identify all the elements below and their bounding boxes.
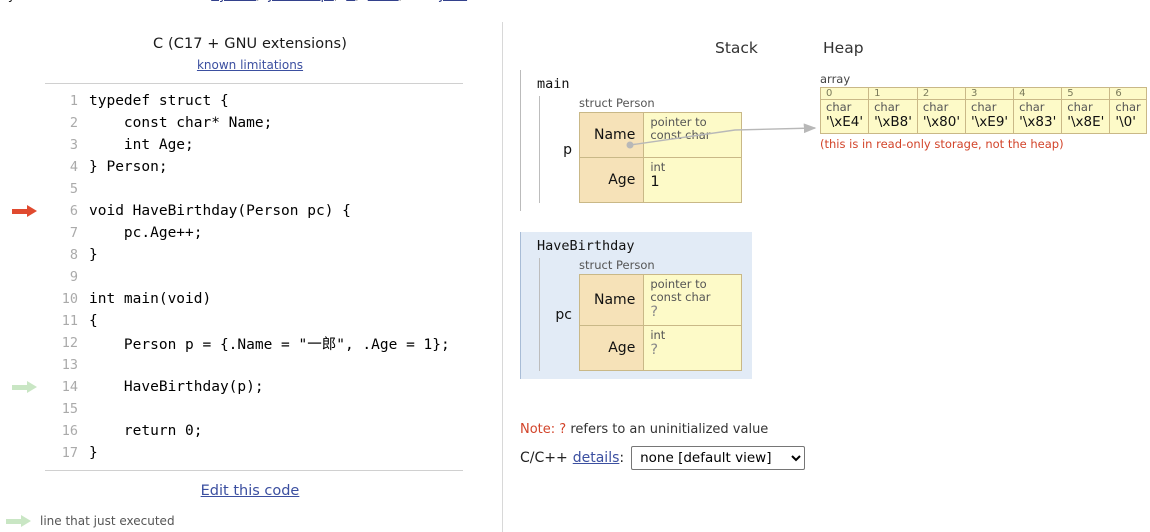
pane-divider <box>502 22 503 532</box>
code-line-text: pc.Age++; <box>87 222 500 244</box>
struct-field-row: Namepointer to const char <box>580 113 742 158</box>
struct-field-row: Ageint? <box>580 326 742 371</box>
heap-cell-value: '\xE4' <box>826 114 863 130</box>
code-line-text: HaveBirthday(p); <box>87 376 500 398</box>
stack-frame-body: pcstruct PersonNamepointer to const char… <box>539 258 742 371</box>
code-line-row[interactable]: 11{ <box>0 310 500 332</box>
details-row: C/C++ details : none [default view] <box>520 446 805 470</box>
code-line-row[interactable]: 7 pc.Age++; <box>0 222 500 244</box>
heap-cell-value: '\0' <box>1115 114 1140 130</box>
variable-name: pc <box>540 307 579 323</box>
struct-object: struct PersonNamepointer to const char?A… <box>579 258 742 371</box>
code-line-marker <box>0 178 40 200</box>
heap-cell: char'\0' <box>1110 100 1146 134</box>
code-line-text <box>87 266 500 288</box>
code-line-row[interactable]: 3 int Age; <box>0 134 500 156</box>
code-line-text: } <box>87 244 500 266</box>
struct-type-label: struct Person <box>579 258 742 272</box>
code-line-row[interactable]: 10int main(void) <box>0 288 500 310</box>
heap-cell-index: 4 <box>1014 88 1062 100</box>
code-line-marker <box>0 398 40 420</box>
code-line-row[interactable]: 12 Person p = {.Name = "一郎", .Age = 1}; <box>0 332 500 354</box>
arrow-shaft <box>12 209 28 214</box>
arrow-head <box>27 205 37 217</box>
note-text: refers to an uninitialized value <box>570 422 768 437</box>
code-line-number[interactable]: 11 <box>40 310 87 332</box>
code-line-text: const char* Name; <box>87 112 500 134</box>
heap-cell: char'\x8E' <box>1062 100 1110 134</box>
code-line-marker <box>0 200 40 222</box>
code-line-number[interactable]: 7 <box>40 222 87 244</box>
code-line-marker <box>0 420 40 442</box>
variable-name: p <box>540 142 579 158</box>
heap-cell-type: char <box>971 101 1008 114</box>
heap-cell-index: 3 <box>966 88 1014 100</box>
heap-object: array 0123456 char'\xE4'char'\xB8'char'\… <box>820 72 1147 151</box>
struct-field-value-cell: int1 <box>644 158 742 203</box>
code-line-marker <box>0 156 40 178</box>
code-line-row[interactable]: 16 return 0; <box>0 420 500 442</box>
code-line-number[interactable]: 8 <box>40 244 87 266</box>
struct-field-type: int <box>650 161 733 174</box>
struct-field-value-cell: pointer to const char <box>644 113 742 158</box>
struct-field-value: ? <box>650 304 733 320</box>
details-colon: : <box>619 450 624 466</box>
code-line-row[interactable]: 8} <box>0 244 500 266</box>
heap-cell-type: char <box>923 101 960 114</box>
code-line-marker <box>0 332 40 354</box>
code-line-row[interactable]: 14 HaveBirthday(p); <box>0 376 500 398</box>
code-line-text <box>87 398 500 420</box>
code-lines-body: 1typedef struct {2 const char* Name;3 in… <box>0 90 500 464</box>
code-line-text: { <box>87 310 500 332</box>
code-line-row[interactable]: 5 <box>0 178 500 200</box>
code-line-marker <box>0 376 40 398</box>
top-nav-text: Python Tutor: Visualize code in <box>0 0 207 3</box>
code-line-marker <box>0 310 40 332</box>
legend-item: line that just executed <box>6 513 500 529</box>
details-prefix: C/C++ <box>520 450 568 466</box>
code-line-text: typedef struct { <box>87 90 500 112</box>
code-line-row[interactable]: 15 <box>0 398 500 420</box>
code-line-row[interactable]: 4} Person; <box>0 156 500 178</box>
heap-cell-value: '\x8E' <box>1067 114 1104 130</box>
heap-cell: char'\x80' <box>917 100 965 134</box>
code-line-row[interactable]: 2 const char* Name; <box>0 112 500 134</box>
code-line-text: int Age; <box>87 134 500 156</box>
code-line-number[interactable]: 6 <box>40 200 87 222</box>
code-line-marker <box>0 222 40 244</box>
execution-legend: line that just executednext line to exec… <box>0 513 500 532</box>
code-line-number[interactable]: 16 <box>40 420 87 442</box>
code-line-marker <box>0 112 40 134</box>
struct-field-value-cell: int? <box>644 326 742 371</box>
top-nav-link-python[interactable]: Python <box>211 0 256 3</box>
struct-field-value: ? <box>650 342 733 358</box>
code-line-number[interactable]: 3 <box>40 134 87 156</box>
arrow-shaft <box>6 519 22 524</box>
struct-field-type: pointer to const char <box>650 116 733 142</box>
heap-cell: char'\x83' <box>1014 100 1062 134</box>
details-link[interactable]: details <box>573 450 620 466</box>
code-panel: C (C17 + GNU extensions) known limitatio… <box>0 30 500 532</box>
edit-code-container: Edit this code <box>0 480 500 499</box>
code-line-number[interactable]: 15 <box>40 398 87 420</box>
heap-cell-type: char <box>1067 101 1104 114</box>
code-line-text: } <box>87 442 500 464</box>
heap-cell-type: char <box>1115 101 1140 114</box>
heap-array-value-row: char'\xE4'char'\xB8'char'\x80'char'\xE9'… <box>821 100 1147 134</box>
heap-cell-type: char <box>874 101 912 114</box>
struct-field-row: Namepointer to const char? <box>580 275 742 326</box>
code-line-row[interactable]: 17} <box>0 442 500 464</box>
code-line-text: } Person; <box>87 156 500 178</box>
code-line-text <box>87 354 500 376</box>
language-title: C (C17 + GNU extensions) <box>0 36 500 52</box>
code-line-number[interactable]: 13 <box>40 354 87 376</box>
stack-frame-main: mainpstruct PersonNamepointer to const c… <box>520 70 752 211</box>
struct-field-value: 1 <box>650 174 733 190</box>
code-line-number[interactable]: 14 <box>40 376 87 398</box>
stack-frame-name: main <box>537 76 742 92</box>
code-line-number[interactable]: 5 <box>40 178 87 200</box>
heap-array-table: 0123456 char'\xE4'char'\xB8'char'\x80'ch… <box>820 87 1147 134</box>
code-line-marker <box>0 90 40 112</box>
code-line-row[interactable]: 9 <box>0 266 500 288</box>
heap-cell-index: 6 <box>1110 88 1146 100</box>
code-line-number[interactable]: 2 <box>40 112 87 134</box>
struct-field-key: Age <box>580 326 644 371</box>
heap-cell-type: char <box>826 101 863 114</box>
code-line-text <box>87 178 500 200</box>
legend-item-label: line that just executed <box>40 514 175 528</box>
arrow-head <box>21 515 31 527</box>
code-line-number[interactable]: 9 <box>40 266 87 288</box>
heap-cell-value: '\xB8' <box>874 114 912 130</box>
struct-field-value-cell: pointer to const char? <box>644 275 742 326</box>
code-line-marker <box>0 266 40 288</box>
code-line-number[interactable]: 10 <box>40 288 87 310</box>
stack-frame-body: pstruct PersonNamepointer to const charA… <box>539 96 742 203</box>
heap-cell: char'\xB8' <box>869 100 918 134</box>
note-question-mark: ? <box>559 422 566 437</box>
heap-cell-index: 0 <box>821 88 869 100</box>
code-listing: 1typedef struct {2 const char* Name;3 in… <box>0 90 500 464</box>
uninitialized-note: Note: ? refers to an uninitialized value <box>520 422 768 437</box>
heap-cell-index: 1 <box>869 88 918 100</box>
top-nav-link-c[interactable]: C <box>346 0 355 3</box>
view-mode-select[interactable]: none [default view] <box>631 446 805 470</box>
next-line-arrow-icon <box>12 205 38 217</box>
top-nav-link-java[interactable]: Java <box>440 0 467 3</box>
code-top-divider <box>45 83 463 84</box>
code-line-row[interactable]: 6void HaveBirthday(Person pc) { <box>0 200 500 222</box>
stack-frame-name: HaveBirthday <box>537 238 742 254</box>
struct-fields-table: Namepointer to const charAgeint1 <box>579 112 742 203</box>
struct-field-type: pointer to const char <box>650 278 733 304</box>
heap-cell-value: '\xE9' <box>971 114 1008 130</box>
heap-cell: char'\xE9' <box>966 100 1014 134</box>
heap-cell-value: '\x83' <box>1019 114 1056 130</box>
heap-readonly-note: (this is in read-only storage, not the h… <box>820 137 1147 151</box>
known-limitations-link[interactable]: known limitations <box>197 58 303 72</box>
code-line-marker <box>0 354 40 376</box>
heap-object-title: array <box>820 72 1147 86</box>
edit-this-code-link[interactable]: Edit this code <box>201 483 300 499</box>
code-bottom-divider <box>45 470 463 471</box>
code-line-text: return 0; <box>87 420 500 442</box>
heap-array-index-row: 0123456 <box>821 88 1147 100</box>
code-line-text: Person p = {.Name = "一郎", .Age = 1}; <box>87 332 500 354</box>
code-line-number[interactable]: 12 <box>40 332 87 354</box>
top-nav-strip: Python Tutor: Visualize code in Python, … <box>0 0 1150 8</box>
just-executed-arrow-icon <box>12 381 38 393</box>
stack-header: Stack <box>715 39 758 57</box>
code-line-marker <box>0 442 40 464</box>
note-label: Note: <box>520 422 555 437</box>
heap-cell-value: '\x80' <box>923 114 960 130</box>
struct-field-type: int <box>650 329 733 342</box>
struct-type-label: struct Person <box>579 96 742 110</box>
top-nav-link-cpp[interactable]: C++ <box>368 0 399 3</box>
code-line-marker <box>0 288 40 310</box>
struct-fields-table: Namepointer to const char?Ageint? <box>579 274 742 371</box>
code-line-row[interactable]: 13 <box>0 354 500 376</box>
code-line-number[interactable]: 4 <box>40 156 87 178</box>
struct-field-key: Age <box>580 158 644 203</box>
code-line-row[interactable]: 1typedef struct { <box>0 90 500 112</box>
arrow-shaft <box>12 385 28 390</box>
heap-cell-type: char <box>1019 101 1056 114</box>
arrow-head <box>27 381 37 393</box>
heap-cell-index: 5 <box>1062 88 1110 100</box>
top-nav-link-javascript[interactable]: JavaScript <box>269 0 334 3</box>
heap-header: Heap <box>823 39 864 57</box>
code-line-text: void HaveBirthday(Person pc) { <box>87 200 500 222</box>
stack-frame-havebirthday: HaveBirthdaypcstruct PersonNamepointer t… <box>520 232 752 379</box>
struct-object: struct PersonNamepointer to const charAg… <box>579 96 742 203</box>
struct-field-key: Name <box>580 113 644 158</box>
just-executed-arrow-icon <box>6 515 32 527</box>
visualization-panel: Stack Heap mainpstruct PersonNamepointer… <box>510 30 1150 532</box>
code-line-number[interactable]: 1 <box>40 90 87 112</box>
struct-field-key: Name <box>580 275 644 326</box>
known-limitations: known limitations <box>0 54 500 73</box>
heap-cell-index: 2 <box>917 88 965 100</box>
top-nav-row: Python Tutor: Visualize code in Python, … <box>0 0 467 3</box>
code-line-text: int main(void) <box>87 288 500 310</box>
struct-field-row: Ageint1 <box>580 158 742 203</box>
code-line-number[interactable]: 17 <box>40 442 87 464</box>
heap-cell: char'\xE4' <box>821 100 869 134</box>
code-line-marker <box>0 244 40 266</box>
code-line-marker <box>0 134 40 156</box>
